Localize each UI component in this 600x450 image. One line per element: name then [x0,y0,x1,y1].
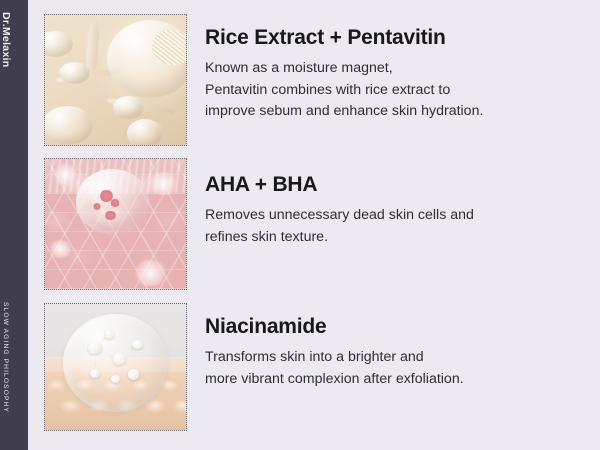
serum-droplet [44,106,93,145]
skin-cells-artwork [45,159,186,289]
molecule-node [88,342,102,355]
pigment-speck [93,203,101,210]
molecule-node [113,353,126,365]
ingredient-heading: AHA + BHA [205,173,585,196]
molecule-node [128,369,139,380]
ingredient-row-2: AHA + BHA Removes unnecessary dead skin … [0,158,600,290]
pigment-speck [104,211,117,220]
molecule-node [111,375,119,383]
ingredient-copy-2: AHA + BHA Removes unnecessary dead skin … [205,173,585,248]
skin-layers-magnifier-molecule-image [44,303,187,431]
ingredient-row-1: Rice Extract + Pentavitin Known as a moi… [0,14,600,146]
ingredient-description: Removes unnecessary dead skin cells and … [205,205,585,248]
pigment-speck [110,199,120,207]
rice-extract-serum-droplets-image [44,14,187,146]
brand-name-vertical: Dr.Melaxin [0,12,20,102]
brand-tagline-vertical: SLOW AGING PHILOSOPHY [0,302,19,432]
ingredient-heading: Rice Extract + Pentavitin [205,26,585,49]
rice-bubble [107,20,187,98]
brand-tagline-area: SLOW AGING PHILOSOPHY [0,302,28,432]
molecule-diagram [63,314,167,412]
molecule-node [90,369,99,378]
pink-skin-cells-exfoliation-image [44,158,187,290]
ingredient-description: Transforms skin into a brighter and more… [205,347,585,390]
blossom-bokeh [51,164,79,185]
molecule-node [132,340,142,350]
blossom-bokeh [48,240,73,258]
serum-droplet [59,62,90,84]
ingredient-description: Known as a moisture magnet, Pentavitin c… [205,58,585,123]
ingredient-copy-1: Rice Extract + Pentavitin Known as a moi… [205,26,585,123]
rice-grains [152,30,187,66]
brand-sidebar: Dr.Melaxin SLOW AGING PHILOSOPHY [0,0,28,450]
promo-graphic: Dr.Melaxin SLOW AGING PHILOSOPHY [0,0,600,450]
serum-droplet [113,96,144,119]
serum-droplet [44,31,73,57]
ingredient-heading: Niacinamide [205,315,585,338]
molecule-node [105,330,114,339]
ingredient-copy-3: Niacinamide Transforms skin into a brigh… [205,315,585,390]
brand-logo-area: Dr.Melaxin [0,12,28,102]
serum-droplet [127,119,164,146]
serum-droplet-artwork [45,15,186,145]
skin-cross-section-artwork [45,304,186,430]
ingredient-row-3: Niacinamide Transforms skin into a brigh… [0,303,600,431]
